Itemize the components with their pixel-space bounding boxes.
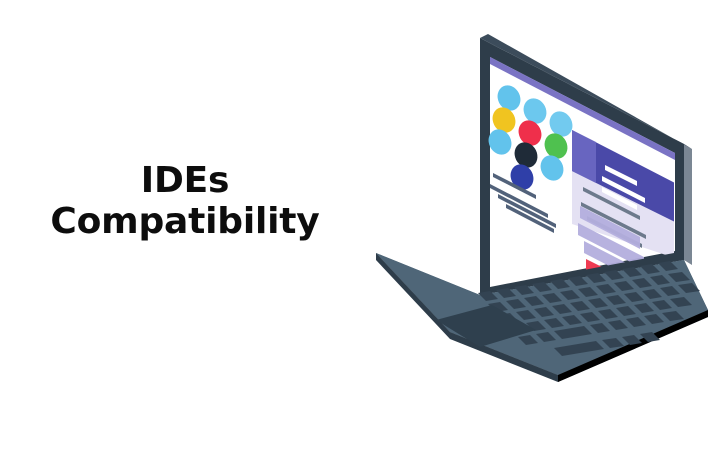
page-title: IDEs Compatibility: [20, 160, 350, 242]
laptop-lid: [480, 34, 692, 295]
lid-right-edge: [684, 144, 692, 265]
page-title-line-1: IDEs: [20, 160, 350, 201]
isometric-laptop-illustration: [340, 10, 720, 430]
page-title-line-2: Compatibility: [20, 201, 350, 242]
illustration-canvas: IDEs Compatibility: [0, 0, 720, 450]
